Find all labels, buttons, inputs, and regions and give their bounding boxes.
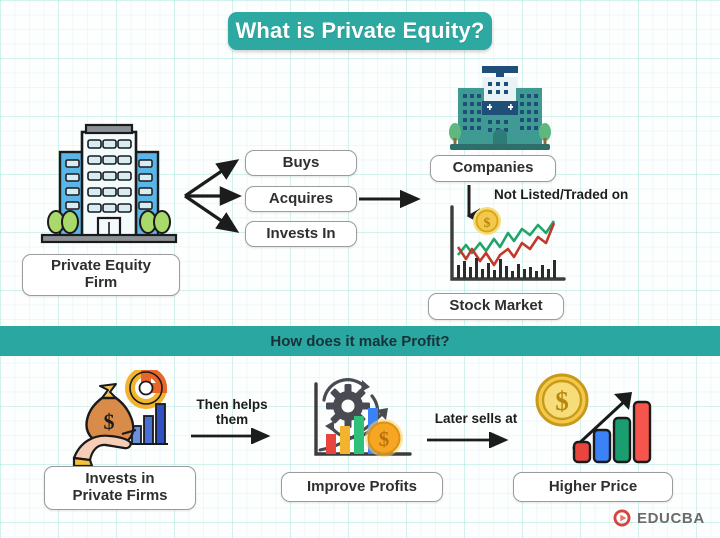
infographic-canvas: What is Private Equity?	[0, 0, 720, 538]
section-banner-text: How does it make Profit?	[270, 333, 449, 350]
stock-market-label: Stock Market	[428, 293, 564, 320]
arrow-then-helps	[190, 428, 276, 444]
connector-later-sells-at: Later sells at	[421, 412, 531, 427]
educba-swirl-icon	[612, 508, 632, 528]
svg-text:$: $	[104, 409, 115, 434]
private-equity-firm-label: Private Equity Firm	[22, 254, 180, 296]
connector-then-helps-them: Then helps them	[186, 398, 278, 428]
coin-bar-growth-icon: $	[530, 372, 660, 466]
step-label-improve-profits: Improve Profits	[281, 472, 443, 502]
step-label-higher-price: Higher Price	[513, 472, 673, 502]
arrow-later-sells	[426, 432, 514, 448]
action-box-invests-in[interactable]: Invests In	[245, 221, 357, 247]
svg-text:$: $	[379, 427, 390, 451]
companies-label: Companies	[430, 155, 556, 182]
page-title-text: What is Private Equity?	[235, 18, 484, 44]
not-listed-text: Not Listed/Traded on	[494, 188, 628, 203]
step-label-invests-in-private-firms: Invests in Private Firms	[44, 466, 196, 510]
arrow-to-companies	[358, 190, 426, 208]
action-box-acquires[interactable]: Acquires	[245, 186, 357, 212]
gear-growth-chart-icon: $	[306, 370, 422, 466]
split-arrows	[183, 150, 249, 242]
educba-branding[interactable]: EDUCBA	[612, 508, 705, 528]
stock-chart-icon: $	[442, 203, 572, 291]
svg-text:$: $	[555, 386, 569, 416]
svg-text:$: $	[484, 216, 491, 231]
page-title: What is Private Equity?	[228, 12, 492, 50]
office-building-icon	[38, 118, 180, 250]
corporate-building-icon	[448, 64, 552, 156]
section-banner: How does it make Profit?	[0, 326, 720, 356]
money-bag-hand-icon: $	[72, 370, 192, 466]
action-box-buys[interactable]: Buys	[245, 150, 357, 176]
educba-wordmark: EDUCBA	[637, 510, 705, 527]
